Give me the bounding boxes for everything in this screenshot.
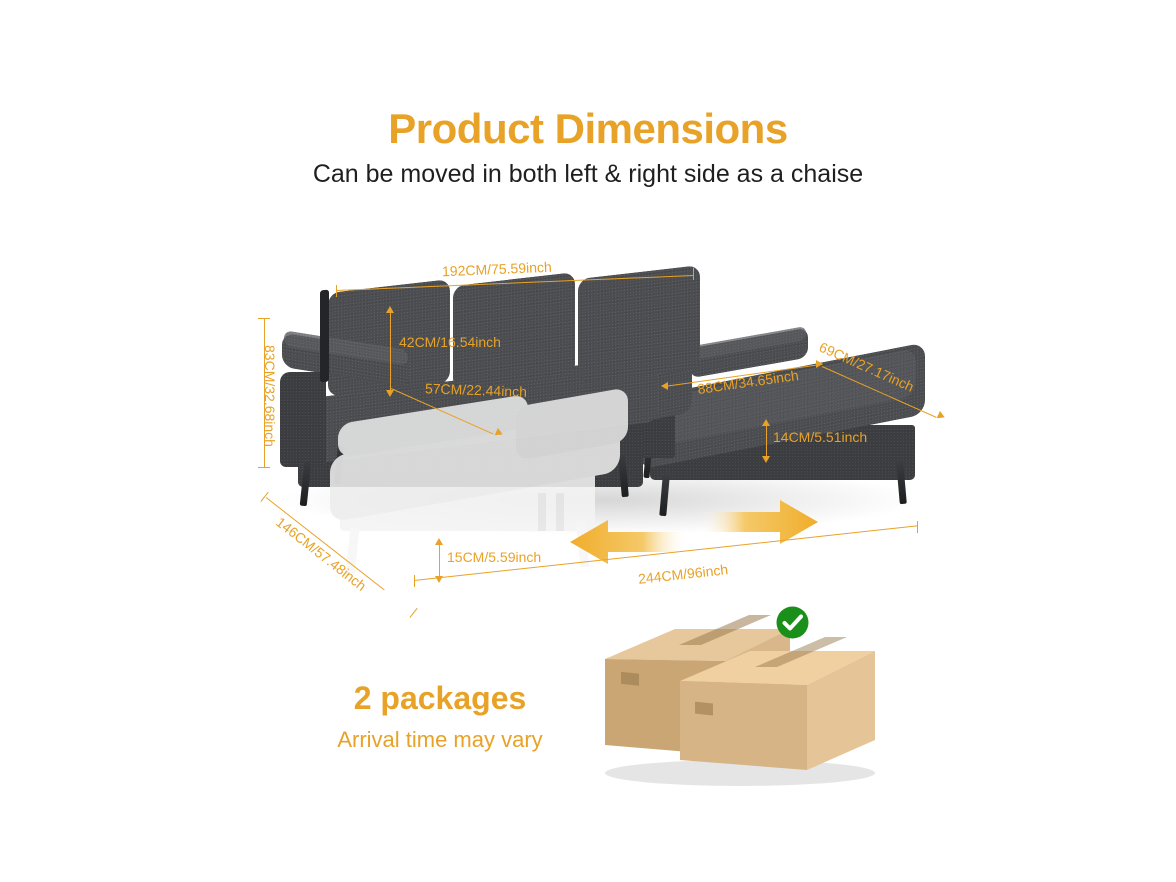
dimarrow-14-bottom xyxy=(762,456,770,463)
dimtick-192-left xyxy=(336,285,337,297)
dim-15: 15CM/5.59inch xyxy=(447,549,541,565)
dimarrow-15-top xyxy=(435,538,443,545)
ghost-leg-back2 xyxy=(556,493,564,531)
dim-42: 42CM/16.54inch xyxy=(399,334,501,350)
dimtick-244-left xyxy=(414,575,415,587)
dimline-15 xyxy=(439,543,440,578)
dimarrow-88-left xyxy=(661,382,668,390)
dimtick-83-top xyxy=(258,318,270,319)
sofa-left-arm-side xyxy=(280,372,326,467)
page-subtitle: Can be moved in both left & right side a… xyxy=(0,160,1176,189)
packages-subtext: Arrival time may vary xyxy=(310,727,570,753)
cardboard-boxes-graphic xyxy=(575,595,905,790)
dimarrow-42-bottom xyxy=(386,390,394,397)
dimtick-83-bottom xyxy=(258,467,270,468)
product-dimensions-infographic: Product Dimensions Can be moved in both … xyxy=(0,0,1176,882)
dimtick-192-right xyxy=(693,268,694,280)
dim-83: 83CM/32.68inch xyxy=(262,336,278,456)
packages-heading: 2 packages xyxy=(310,680,570,717)
dim-14: 14CM/5.51inch xyxy=(773,429,867,445)
dimline-42 xyxy=(390,312,391,392)
dimtick-244-right xyxy=(917,521,918,533)
move-left-arrow xyxy=(568,518,688,566)
check-circle-icon xyxy=(775,605,810,640)
page-title: Product Dimensions xyxy=(0,105,1176,153)
dimarrow-42-top xyxy=(386,306,394,313)
sofa-back-left-edge xyxy=(320,290,329,383)
back-cushion-middle xyxy=(453,272,575,390)
dimarrow-14-top xyxy=(762,419,770,426)
back-cushion-right xyxy=(578,265,700,383)
packages-illustration xyxy=(575,595,905,790)
dimline-14 xyxy=(766,424,767,458)
ghost-leg-back xyxy=(538,493,546,531)
